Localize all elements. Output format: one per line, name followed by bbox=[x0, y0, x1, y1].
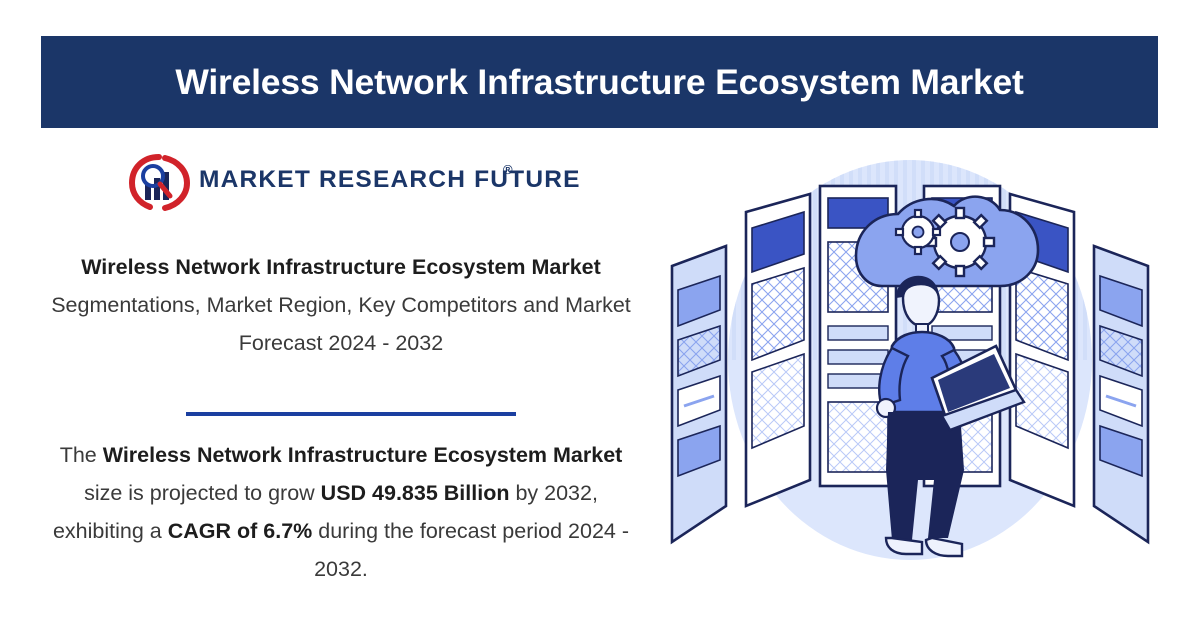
summary-mid: size is projected to grow bbox=[84, 481, 321, 505]
summary-market-value: USD 49.835 Billion bbox=[321, 481, 510, 505]
divider bbox=[186, 412, 516, 416]
headline: Wireless Network Infrastructure Ecosyste… bbox=[41, 248, 641, 362]
left-content-column: MARKET RESEARCH FUTURE ® Wireless Networ… bbox=[41, 140, 641, 620]
headline-bold-lead: Wireless Network Infrastructure Ecosyste… bbox=[81, 255, 601, 279]
header-banner: Wireless Network Infrastructure Ecosyste… bbox=[41, 36, 1158, 128]
illustration-data-center bbox=[660, 150, 1160, 570]
summary-paragraph: The Wireless Network Infrastructure Ecos… bbox=[41, 436, 641, 588]
brand-logo: MARKET RESEARCH FUTURE ® bbox=[129, 152, 589, 214]
server-rack-outer-left bbox=[672, 246, 726, 542]
promo-graphic: Wireless Network Infrastructure Ecosyste… bbox=[0, 0, 1200, 627]
brand-logo-text: MARKET RESEARCH FUTURE bbox=[199, 166, 581, 194]
page-title: Wireless Network Infrastructure Ecosyste… bbox=[175, 62, 1023, 103]
summary-suffix: during the forecast period 2024 - 2032. bbox=[312, 519, 629, 581]
registered-trademark-icon: ® bbox=[503, 162, 513, 177]
summary-cagr: CAGR of 6.7% bbox=[168, 519, 313, 543]
summary-market-name: Wireless Network Infrastructure Ecosyste… bbox=[103, 443, 623, 467]
server-rack-outer-right bbox=[1094, 246, 1148, 542]
magnifier-bar-chart-logo-icon bbox=[129, 154, 191, 212]
server-rack-inner-left bbox=[746, 194, 810, 506]
summary-prefix: The bbox=[60, 443, 103, 467]
headline-rest: Segmentations, Market Region, Key Compet… bbox=[51, 293, 631, 355]
